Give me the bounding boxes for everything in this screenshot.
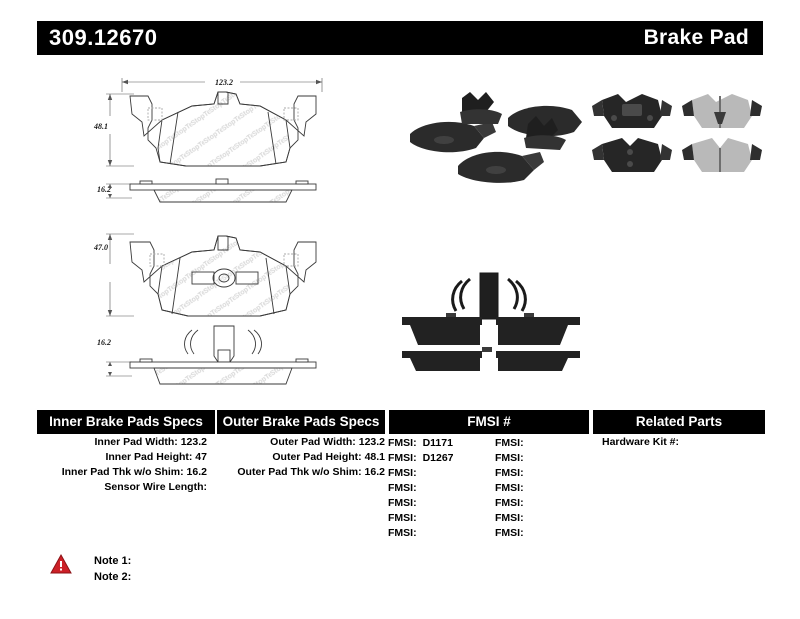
fmsi-label: FMSI: — [495, 437, 524, 449]
fmsi-row: FMSI: — [495, 496, 530, 511]
fmsi-value — [524, 452, 530, 464]
fmsi-value — [524, 437, 530, 449]
fmsi-value: D1171 — [417, 437, 453, 449]
fmsi-value — [417, 497, 423, 509]
outer-pad-face-drawing: StopTech — [100, 70, 350, 180]
fmsi-value: D1267 — [417, 452, 454, 464]
header-banner: 309.12670 Brake Pad — [37, 21, 763, 55]
inner-pad-face-drawing — [100, 220, 350, 332]
fmsi-row: FMSI: — [495, 466, 530, 481]
fmsi-value — [524, 512, 530, 524]
product-photo-pads-grid — [588, 86, 763, 184]
warning-triangle-icon — [50, 554, 72, 574]
related-part-row: Hardware Kit #: — [602, 436, 679, 449]
product-photo-pads-edge — [396, 265, 586, 373]
fmsi-row: FMSI: — [495, 436, 530, 451]
fmsi-row: FMSI: — [388, 466, 454, 481]
fmsi-label: FMSI: — [495, 527, 524, 539]
fmsi-value — [524, 482, 530, 494]
note-1-label: Note 1: — [94, 554, 131, 568]
outer-pad-side-drawing — [100, 178, 350, 212]
fmsi-value — [417, 527, 423, 539]
related-parts-column: Hardware Kit #: — [602, 436, 679, 449]
fmsi-row: FMSI: — [495, 481, 530, 496]
outer-spec-row: Outer Pad Height: 48.1 — [213, 451, 385, 464]
header-inner-specs: Inner Brake Pads Specs — [37, 410, 215, 434]
fmsi-label: FMSI: — [388, 527, 417, 539]
fmsi-label: FMSI: — [388, 437, 417, 449]
outer-spec-row: Outer Pad Width: 123.2 — [213, 436, 385, 449]
outer-spec-row: Outer Pad Thk w/o Shim: 16.2 — [213, 466, 385, 479]
note-2-label: Note 2: — [94, 570, 131, 584]
fmsi-label: FMSI: — [388, 482, 417, 494]
fmsi-row: FMSI: — [388, 511, 454, 526]
technical-drawings-area: 123.2 48.1 16.2 47.0 16.2 StopTech — [0, 60, 800, 400]
fmsi-label: FMSI: — [495, 512, 524, 524]
product-photo-pad-set — [400, 82, 585, 187]
fmsi-value — [417, 512, 423, 524]
table-header-row: Inner Brake Pads Specs Outer Brake Pads … — [37, 410, 765, 434]
fmsi-value — [524, 467, 530, 479]
fmsi-label: FMSI: — [388, 467, 417, 479]
header-cell-inner-outer: Inner Brake Pads Specs Outer Brake Pads … — [37, 410, 385, 434]
fmsi-label: FMSI: — [495, 482, 524, 494]
part-number: 309.12670 — [49, 26, 158, 50]
product-type-label: Brake Pad — [644, 26, 749, 50]
fmsi-label: FMSI: — [388, 497, 417, 509]
notes-section: Note 1: Note 2: — [50, 552, 310, 597]
fmsi-label: FMSI: — [388, 452, 417, 464]
fmsi-row: FMSI: — [495, 511, 530, 526]
fmsi-row: FMSI: — [388, 481, 454, 496]
fmsi-column-left: FMSI:D1171 FMSI:D1267 FMSI: FMSI: FMSI: … — [388, 436, 454, 541]
fmsi-label: FMSI: — [495, 467, 524, 479]
fmsi-row: FMSI:D1267 — [388, 451, 454, 466]
fmsi-value — [524, 497, 530, 509]
fmsi-row: FMSI: — [495, 451, 530, 466]
fmsi-label: FMSI: — [495, 497, 524, 509]
header-fmsi: FMSI # — [389, 410, 589, 434]
inner-spec-row: Inner Pad Height: 47 — [37, 451, 207, 464]
inner-spec-row: Sensor Wire Length: — [37, 481, 207, 494]
fmsi-label: FMSI: — [495, 452, 524, 464]
fmsi-value — [417, 482, 423, 494]
fmsi-row: FMSI: — [495, 526, 530, 541]
inner-spec-row: Inner Pad Thk w/o Shim: 16.2 — [37, 466, 207, 479]
inner-pad-side-drawing — [100, 322, 350, 394]
fmsi-value — [524, 527, 530, 539]
fmsi-row: FMSI: — [388, 496, 454, 511]
inner-spec-row: Inner Pad Width: 123.2 — [37, 436, 207, 449]
fmsi-label: FMSI: — [388, 512, 417, 524]
fmsi-row: FMSI: — [388, 526, 454, 541]
fmsi-value — [417, 467, 423, 479]
fmsi-row: FMSI:D1171 — [388, 436, 454, 451]
fmsi-column-right: FMSI: FMSI: FMSI: FMSI: FMSI: FMSI: FMSI… — [495, 436, 530, 541]
header-related-parts: Related Parts — [593, 410, 765, 434]
header-outer-specs: Outer Brake Pads Specs — [217, 410, 385, 434]
